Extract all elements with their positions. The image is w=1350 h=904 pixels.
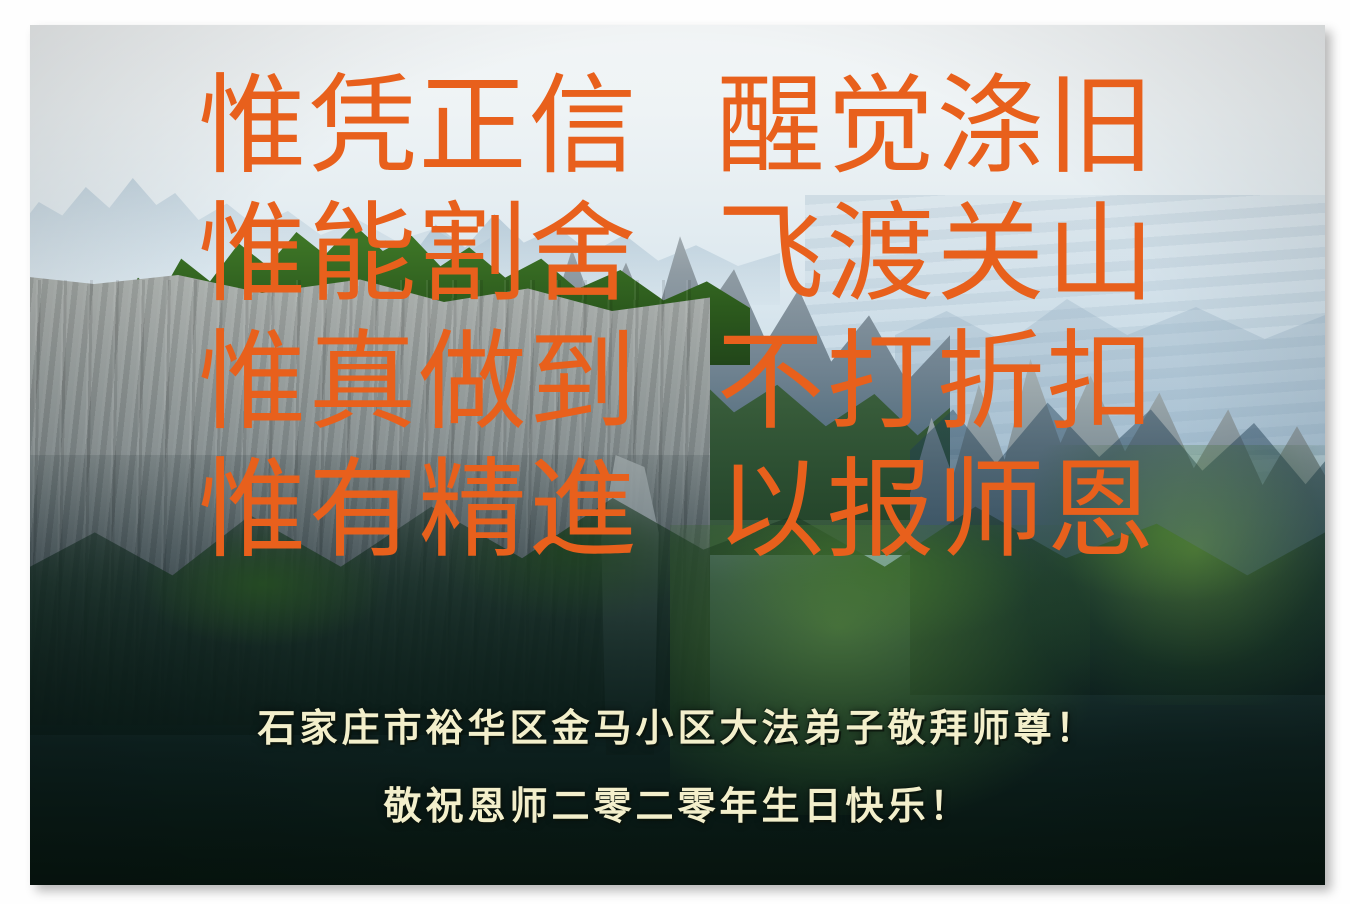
couplet-left-line-4: 惟有精進 [198,447,638,575]
couplet-right-line-4: 以报师恩 [717,447,1157,575]
signature-line-1: 石家庄市裕华区金马小区大法弟子敬拜师尊！ [30,697,1325,752]
poster-page: 惟凭正信 惟能割舍 惟真做到 惟有精進 醒觉涤旧 飞渡关山 不打折扣 以报师恩 … [0,0,1350,904]
couplet-right-line-1: 醒觉涤旧 [717,63,1157,191]
greeting-card-photo: 惟凭正信 惟能割舍 惟真做到 惟有精進 醒觉涤旧 飞渡关山 不打折扣 以报师恩 … [30,25,1325,885]
couplet-right-line-2: 飞渡关山 [717,191,1157,319]
couplet-left-column: 惟凭正信 惟能割舍 惟真做到 惟有精進 [198,63,638,575]
couplet-right-column: 醒觉涤旧 飞渡关山 不打折扣 以报师恩 [711,63,1157,575]
couplet-overlay: 惟凭正信 惟能割舍 惟真做到 惟有精進 醒觉涤旧 飞渡关山 不打折扣 以报师恩 [30,63,1325,575]
couplet-left-line-1: 惟凭正信 [198,63,638,191]
couplet-left-line-2: 惟能割舍 [198,191,638,319]
couplet-right-line-3: 不打折扣 [717,319,1157,447]
couplet-left-line-3: 惟真做到 [198,319,638,447]
signature-line-2: 敬祝恩师二零二零年生日快乐！ [30,775,1325,830]
